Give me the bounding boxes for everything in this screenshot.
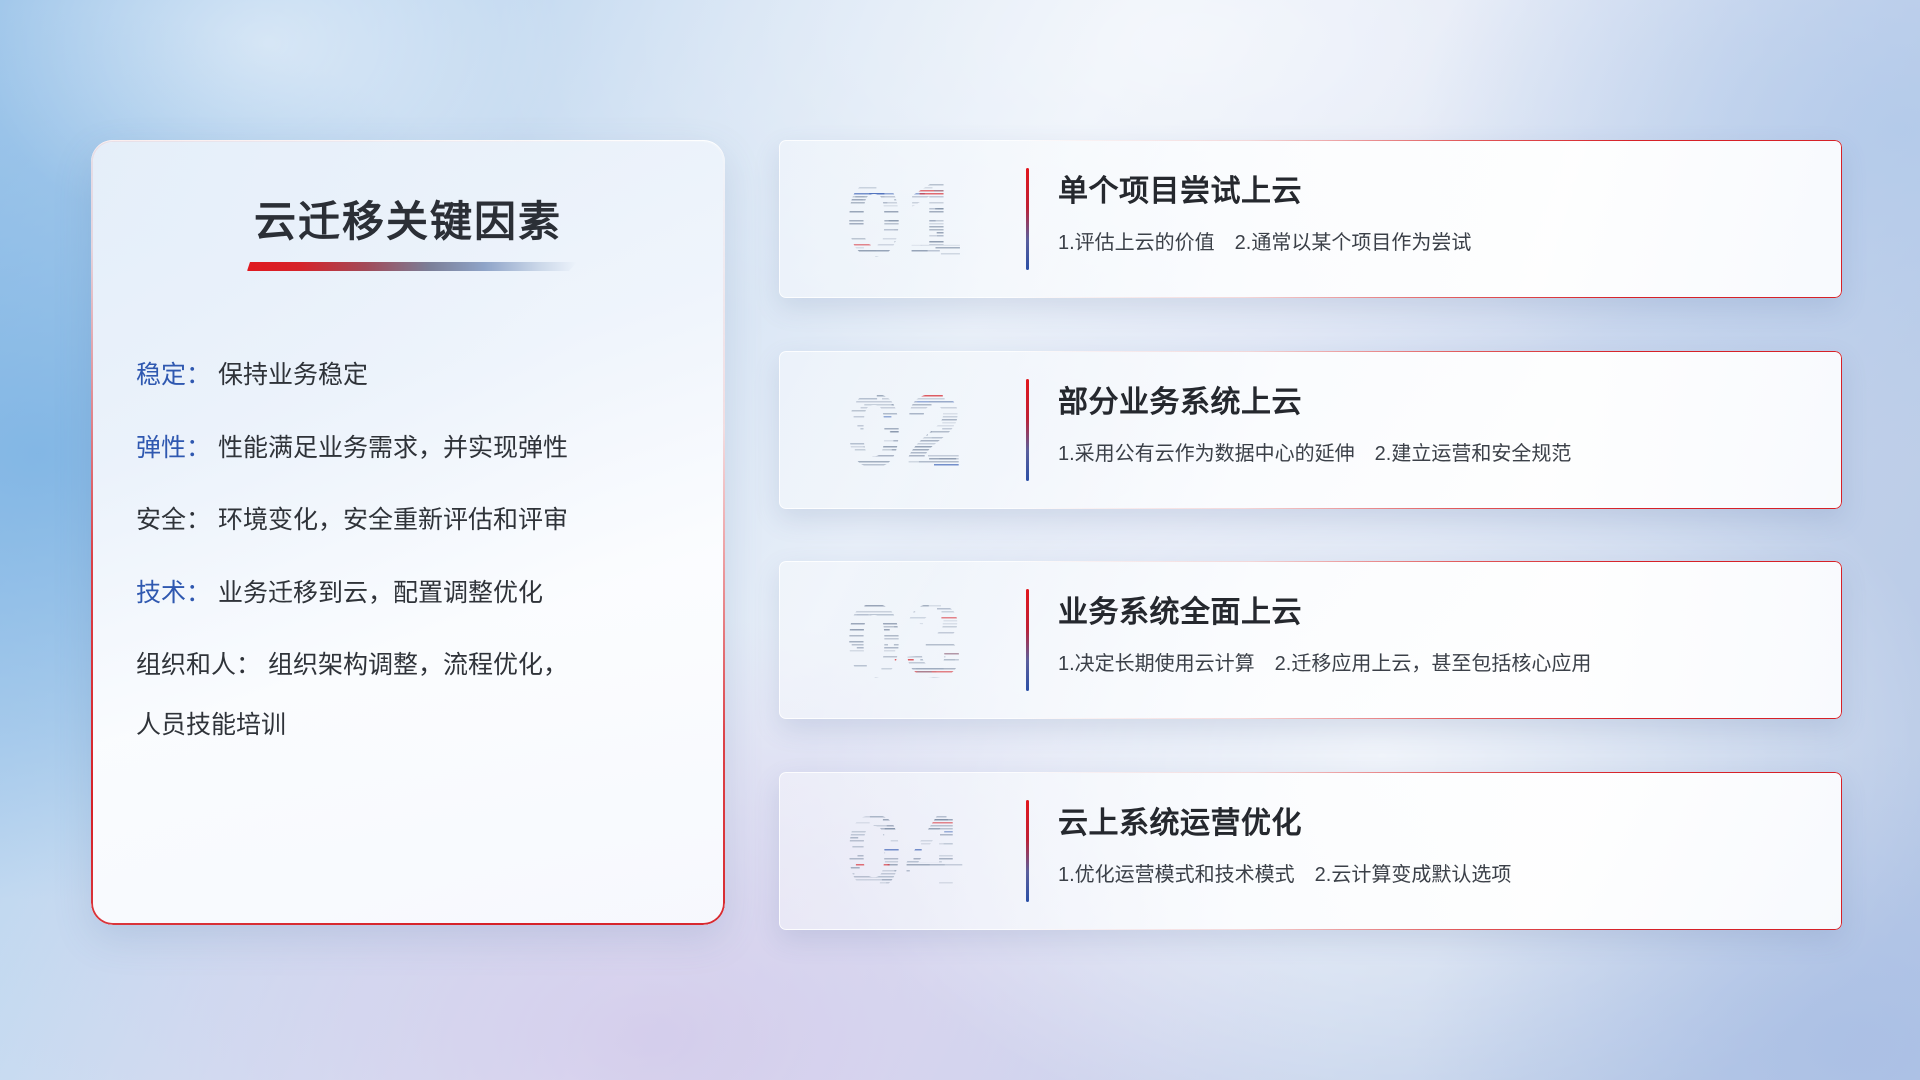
list-item-key: 安全： xyxy=(136,506,211,534)
title-underline-gradient xyxy=(247,262,577,271)
list-item: 稳定： 保持业务稳定 xyxy=(136,358,695,394)
card-subtitle: 1.评估上云的价值 2.通常以某个项目作为尝试 xyxy=(1058,226,1471,255)
card-subtitle: 1.决定长期使用云计算 2.迁移应用上云，甚至包括核心应用 xyxy=(1058,647,1591,676)
stage-card[interactable]: 01 单个项目尝试上云 1.评估上云的价值 2.通常以某个项目作为尝试 xyxy=(779,140,1842,298)
stage-number-glyph: 03 xyxy=(825,579,985,701)
list-item: 技术： 业务迁移到云，配置调整优化 xyxy=(136,576,695,612)
card-subtitle: 1.优化运营模式和技术模式 2.云计算变成默认选项 xyxy=(1058,858,1511,887)
card-divider-bar xyxy=(1026,800,1029,902)
stage-number-glyph: 01 xyxy=(825,158,985,280)
stage-number-glyph: 04 xyxy=(825,790,985,912)
page-title: 云迁移关键因素 xyxy=(91,188,725,249)
stage-card[interactable]: 04 云上系统运营优化 1.优化运营模式和技术模式 2.云计算变成默认选项 xyxy=(779,772,1842,930)
list-item-value: 保持业务稳定 xyxy=(218,361,368,389)
list-item-key: 稳定： xyxy=(136,361,211,389)
list-item: 安全： 环境变化，安全重新评估和评审 xyxy=(136,503,695,539)
card-title: 业务系统全面上云 xyxy=(1058,587,1302,631)
list-item-value: 业务迁移到云，配置调整优化 xyxy=(218,579,543,607)
list-item-value: 组织架构调整，流程优化， xyxy=(268,651,568,679)
list-item-value: 环境变化，安全重新评估和评审 xyxy=(218,506,568,534)
list-item: 组织和人： 组织架构调整，流程优化， 人员技能培训 xyxy=(136,648,695,743)
list-item-key: 弹性： xyxy=(136,434,211,462)
card-title: 云上系统运营优化 xyxy=(1058,798,1302,842)
list-item-key: 组织和人： xyxy=(136,651,261,679)
card-subtitle: 1.采用公有云作为数据中心的延伸 2.建立运营和安全规范 xyxy=(1058,437,1571,466)
card-divider-bar xyxy=(1026,589,1029,691)
key-factors-list: 稳定： 保持业务稳定 弹性： 性能满足业务需求，并实现弹性 安全： 环境变化，安… xyxy=(136,358,695,773)
stage-card[interactable]: 02 部分业务系统上云 1.采用公有云作为数据中心的延伸 2.建立运营和安全规范 xyxy=(779,351,1842,509)
stage-number-glyph: 02 xyxy=(825,369,985,491)
list-item-value-line2: 人员技能培训 xyxy=(136,708,695,744)
card-divider-bar xyxy=(1026,168,1029,270)
card-title: 部分业务系统上云 xyxy=(1058,377,1302,421)
card-divider-bar xyxy=(1026,379,1029,481)
list-item-value: 性能满足业务需求，并实现弹性 xyxy=(218,434,568,462)
stage-card[interactable]: 03 业务系统全面上云 1.决定长期使用云计算 2.迁移应用上云，甚至包括核心应… xyxy=(779,561,1842,719)
list-item-key: 技术： xyxy=(136,579,211,607)
card-title: 单个项目尝试上云 xyxy=(1058,166,1302,210)
list-item: 弹性： 性能满足业务需求，并实现弹性 xyxy=(136,431,695,467)
key-factors-panel: 云迁移关键因素 稳定： 保持业务稳定 弹性： 性能满足业务需求，并实现弹性 安全… xyxy=(91,140,725,925)
